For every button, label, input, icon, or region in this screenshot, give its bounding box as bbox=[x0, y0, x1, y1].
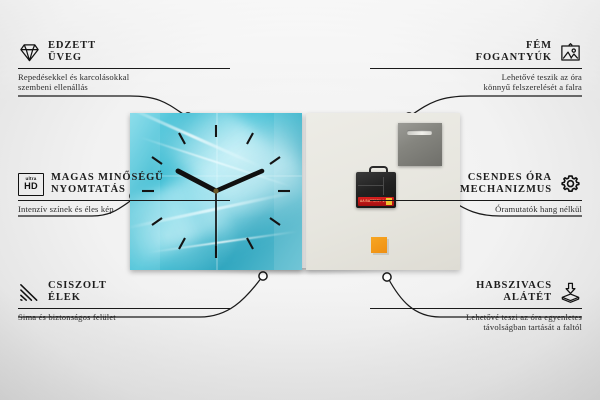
divider bbox=[370, 200, 582, 201]
feature-header: CSISZOLT ÉLEK bbox=[18, 280, 230, 305]
feature-header: ultra HD MAGAS MINŐSÉGŰ NYOMTATÁS bbox=[18, 172, 230, 197]
feature-polished-edges: CSISZOLT ÉLEK Sima és biztonságos felüle… bbox=[18, 280, 230, 322]
feature-silent-mechanism: CSENDES ÓRA MECHANIZMUS Óramutatók hang … bbox=[370, 172, 582, 214]
feature-title: CSISZOLT ÉLEK bbox=[48, 280, 107, 305]
feature-description: Repedésekkel és karcolásokkal szembeni e… bbox=[18, 72, 230, 93]
feature-hd-print: ultra HD MAGAS MINŐSÉGŰ NYOMTATÁS Intenz… bbox=[18, 172, 230, 214]
feature-title: FÉM FOGANTYÚK bbox=[476, 40, 552, 65]
polished-edges-icon bbox=[18, 281, 41, 304]
divider bbox=[370, 68, 582, 69]
divider bbox=[18, 200, 230, 201]
hanger-slot bbox=[407, 130, 432, 135]
feature-title: MAGAS MINŐSÉGŰ NYOMTATÁS bbox=[51, 172, 164, 197]
feature-header: CSENDES ÓRA MECHANIZMUS bbox=[370, 172, 582, 197]
gear-icon bbox=[559, 173, 582, 196]
infographic-canvas: AA BATTERY 1.5V bbox=[0, 0, 600, 400]
feature-description: Óramutatók hang nélkül bbox=[370, 204, 582, 214]
divider bbox=[370, 308, 582, 309]
feature-metal-handles: FÉM FOGANTYÚK Lehetővé teszik az óra kön… bbox=[370, 40, 582, 93]
feature-tempered-glass: EDZETT ÜVEG Repedésekkel és karcolásokka… bbox=[18, 40, 230, 93]
feature-title: CSENDES ÓRA MECHANIZMUS bbox=[460, 172, 552, 197]
feature-description: Sima és biztonságos felület bbox=[18, 312, 230, 322]
divider bbox=[18, 308, 230, 309]
ultra-hd-icon: ultra HD bbox=[18, 173, 44, 196]
diamond-icon bbox=[18, 41, 41, 64]
feature-title: HABSZIVACS ALÁTÉT bbox=[476, 280, 552, 305]
feature-header: EDZETT ÜVEG bbox=[18, 40, 230, 65]
feature-header: HABSZIVACS ALÁTÉT bbox=[370, 280, 582, 305]
foam-spacer-pad bbox=[371, 237, 387, 253]
feature-description: Lehetővé teszik az óra könnyű felszerelé… bbox=[370, 72, 582, 93]
feature-description: Intenzív színek és éles kép bbox=[18, 204, 230, 214]
picture-hanger-icon bbox=[559, 41, 582, 64]
divider bbox=[18, 68, 230, 69]
foam-pad-icon bbox=[559, 281, 582, 304]
metal-hanger-plate bbox=[398, 123, 442, 166]
feature-title: EDZETT ÜVEG bbox=[48, 40, 96, 65]
feature-description: Lehetővé teszi az óra egyenletes távolsá… bbox=[370, 312, 582, 333]
feature-header: FÉM FOGANTYÚK bbox=[370, 40, 582, 65]
feature-foam-pad: HABSZIVACS ALÁTÉT Lehetővé teszi az óra … bbox=[370, 280, 582, 333]
